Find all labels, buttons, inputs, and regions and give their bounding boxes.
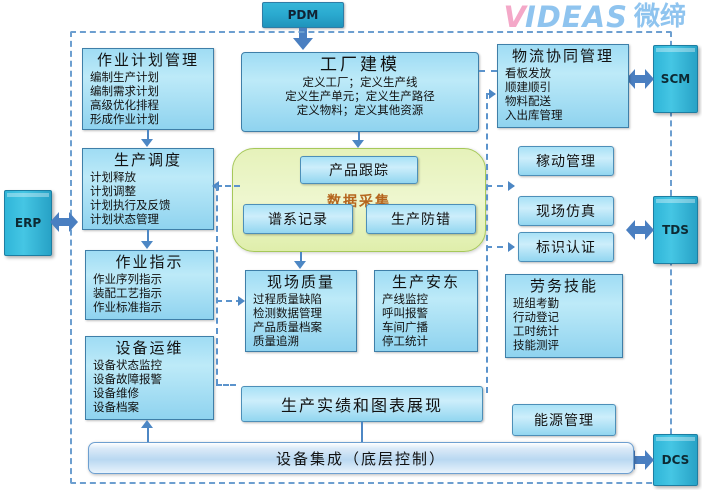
module-title: 现场质量 — [246, 271, 356, 291]
module-item: 计划执行及反馈 — [90, 198, 213, 212]
module-title: 作业指示 — [86, 251, 213, 271]
module-item: 行动登记 — [513, 310, 622, 324]
module-item: 呼叫报警 — [382, 306, 477, 320]
module-item: 编制生产计划 — [90, 70, 213, 84]
external-system-erp[interactable]: ERP — [4, 190, 52, 256]
module-item: 车间广播 — [382, 320, 477, 334]
module-production-scheduling[interactable]: 生产调度 计划释放 计划调整 计划执行及反馈 计划状态管理 — [82, 148, 214, 230]
module-item-list: 编制生产计划 编制需求计划 高级优化排程 形成作业计划 — [83, 69, 213, 126]
tds-bidirectional-arrow-icon — [626, 220, 654, 240]
module-title: 设备运维 — [86, 337, 213, 357]
erp-bidirectional-arrow-icon — [50, 212, 78, 232]
module-item: 作业序列指示 — [93, 272, 213, 286]
module-item: 看板发放 — [505, 66, 628, 80]
external-system-dcs[interactable]: DCS — [653, 434, 698, 486]
module-work-instruction[interactable]: 作业指示 作业序列指示 装配工艺指示 作业标准指示 — [85, 250, 214, 320]
chip-identification-certification[interactable]: 标识认证 — [518, 232, 614, 262]
logo-chinese-name: 微缔 — [634, 4, 686, 30]
module-item: 检测数据管理 — [253, 306, 356, 320]
module-item: 顺建顺引 — [505, 80, 628, 94]
module-item: 装配工艺指示 — [93, 286, 213, 300]
module-item: 设备故障报警 — [93, 372, 213, 386]
chip-product-tracking[interactable]: 产品跟踪 — [300, 156, 418, 184]
module-factory-modeling[interactable]: 工厂建模 定义工厂；定义生产线 定义生产单元；定义生产路径 定义物料；定义其他资… — [241, 52, 479, 132]
module-item: 计划状态管理 — [90, 212, 213, 226]
module-item: 形成作业计划 — [90, 112, 213, 126]
module-logistics-collaboration[interactable]: 物流协同管理 看板发放 顺建顺引 物料配送 入出库管理 — [497, 44, 629, 128]
module-item-list: 计划释放 计划调整 计划执行及反馈 计划状态管理 — [83, 169, 213, 226]
module-item: 高级优化排程 — [90, 98, 213, 112]
module-item: 工时统计 — [513, 324, 622, 338]
module-equipment-integration[interactable]: 设备集成（底层控制） — [88, 442, 634, 474]
module-title: 作业计划管理 — [83, 49, 213, 69]
scm-bidirectional-arrow-icon — [626, 69, 654, 89]
module-item: 过程质量缺陷 — [253, 292, 356, 306]
module-item: 设备维修 — [93, 386, 213, 400]
external-system-scm[interactable]: SCM — [653, 45, 698, 113]
module-item: 入出库管理 — [505, 108, 628, 122]
module-labor-skill[interactable]: 劳务技能 班组考勤 行动登记 工时统计 技能测评 — [505, 274, 623, 358]
chip-field-simulation[interactable]: 现场仿真 — [518, 196, 614, 226]
module-item: 班组考勤 — [513, 296, 622, 310]
module-production-plan[interactable]: 作业计划管理 编制生产计划 编制需求计划 高级优化排程 形成作业计划 — [82, 48, 214, 130]
module-title: 物流协同管理 — [498, 45, 628, 65]
module-item: 计划调整 — [90, 184, 213, 198]
module-item: 作业标准指示 — [93, 300, 213, 314]
module-title: 劳务技能 — [506, 275, 622, 295]
module-item: 技能测评 — [513, 338, 622, 352]
module-field-quality[interactable]: 现场质量 过程质量缺陷 检测数据管理 产品质量档案 质量追溯 — [245, 270, 357, 352]
module-item: 产品质量档案 — [253, 320, 356, 334]
chip-production-error-proofing[interactable]: 生产防错 — [366, 204, 476, 234]
logo-mark: V — [504, 3, 525, 32]
module-equipment-maintenance[interactable]: 设备运维 设备状态监控 设备故障报警 设备维修 设备档案 — [85, 336, 214, 420]
module-item: 停工统计 — [382, 334, 477, 348]
module-item: 计划释放 — [90, 170, 213, 184]
chip-utilization-management[interactable]: 稼动管理 — [518, 146, 614, 176]
pdm-source-box[interactable]: PDM — [262, 2, 344, 28]
module-item: 物料配送 — [505, 94, 628, 108]
module-item-list: 设备状态监控 设备故障报警 设备维修 设备档案 — [86, 357, 213, 414]
module-title: 工厂建模 — [242, 53, 478, 74]
module-title: 生产调度 — [83, 149, 213, 169]
module-item-list: 定义工厂；定义生产线 定义生产单元；定义生产路径 定义物料；定义其他资源 — [242, 74, 478, 117]
module-item-list: 看板发放 顺建顺引 物料配送 入出库管理 — [498, 65, 628, 122]
module-item: 编制需求计划 — [90, 84, 213, 98]
module-item-list: 作业序列指示 装配工艺指示 作业标准指示 — [86, 271, 213, 314]
module-item: 定义物料；定义其他资源 — [242, 103, 478, 117]
external-system-tds[interactable]: TDS — [653, 196, 698, 264]
module-item-list: 产线监控 呼叫报警 车间广播 停工统计 — [375, 291, 477, 348]
module-item: 定义工厂；定义生产线 — [242, 75, 478, 89]
module-item-list: 班组考勤 行动登记 工时统计 技能测评 — [506, 295, 622, 352]
module-item-list: 过程质量缺陷 检测数据管理 产品质量档案 质量追溯 — [246, 291, 356, 348]
logo-wordmark: IDEAS — [525, 3, 628, 32]
module-item: 设备档案 — [93, 400, 213, 414]
module-item: 定义生产单元；定义生产路径 — [242, 89, 478, 103]
brand-logo: V IDEAS 微缔 — [418, 2, 686, 32]
module-production-performance-charts[interactable]: 生产实绩和图表展现 — [241, 386, 483, 422]
module-item: 产线监控 — [382, 292, 477, 306]
chip-energy-management[interactable]: 能源管理 — [512, 404, 616, 436]
module-production-andon[interactable]: 生产安东 产线监控 呼叫报警 车间广播 停工统计 — [374, 270, 478, 352]
module-item: 设备状态监控 — [93, 358, 213, 372]
module-item: 质量追溯 — [253, 334, 356, 348]
chip-genealogy-record[interactable]: 谱系记录 — [243, 204, 353, 234]
module-title: 生产安东 — [375, 271, 477, 291]
